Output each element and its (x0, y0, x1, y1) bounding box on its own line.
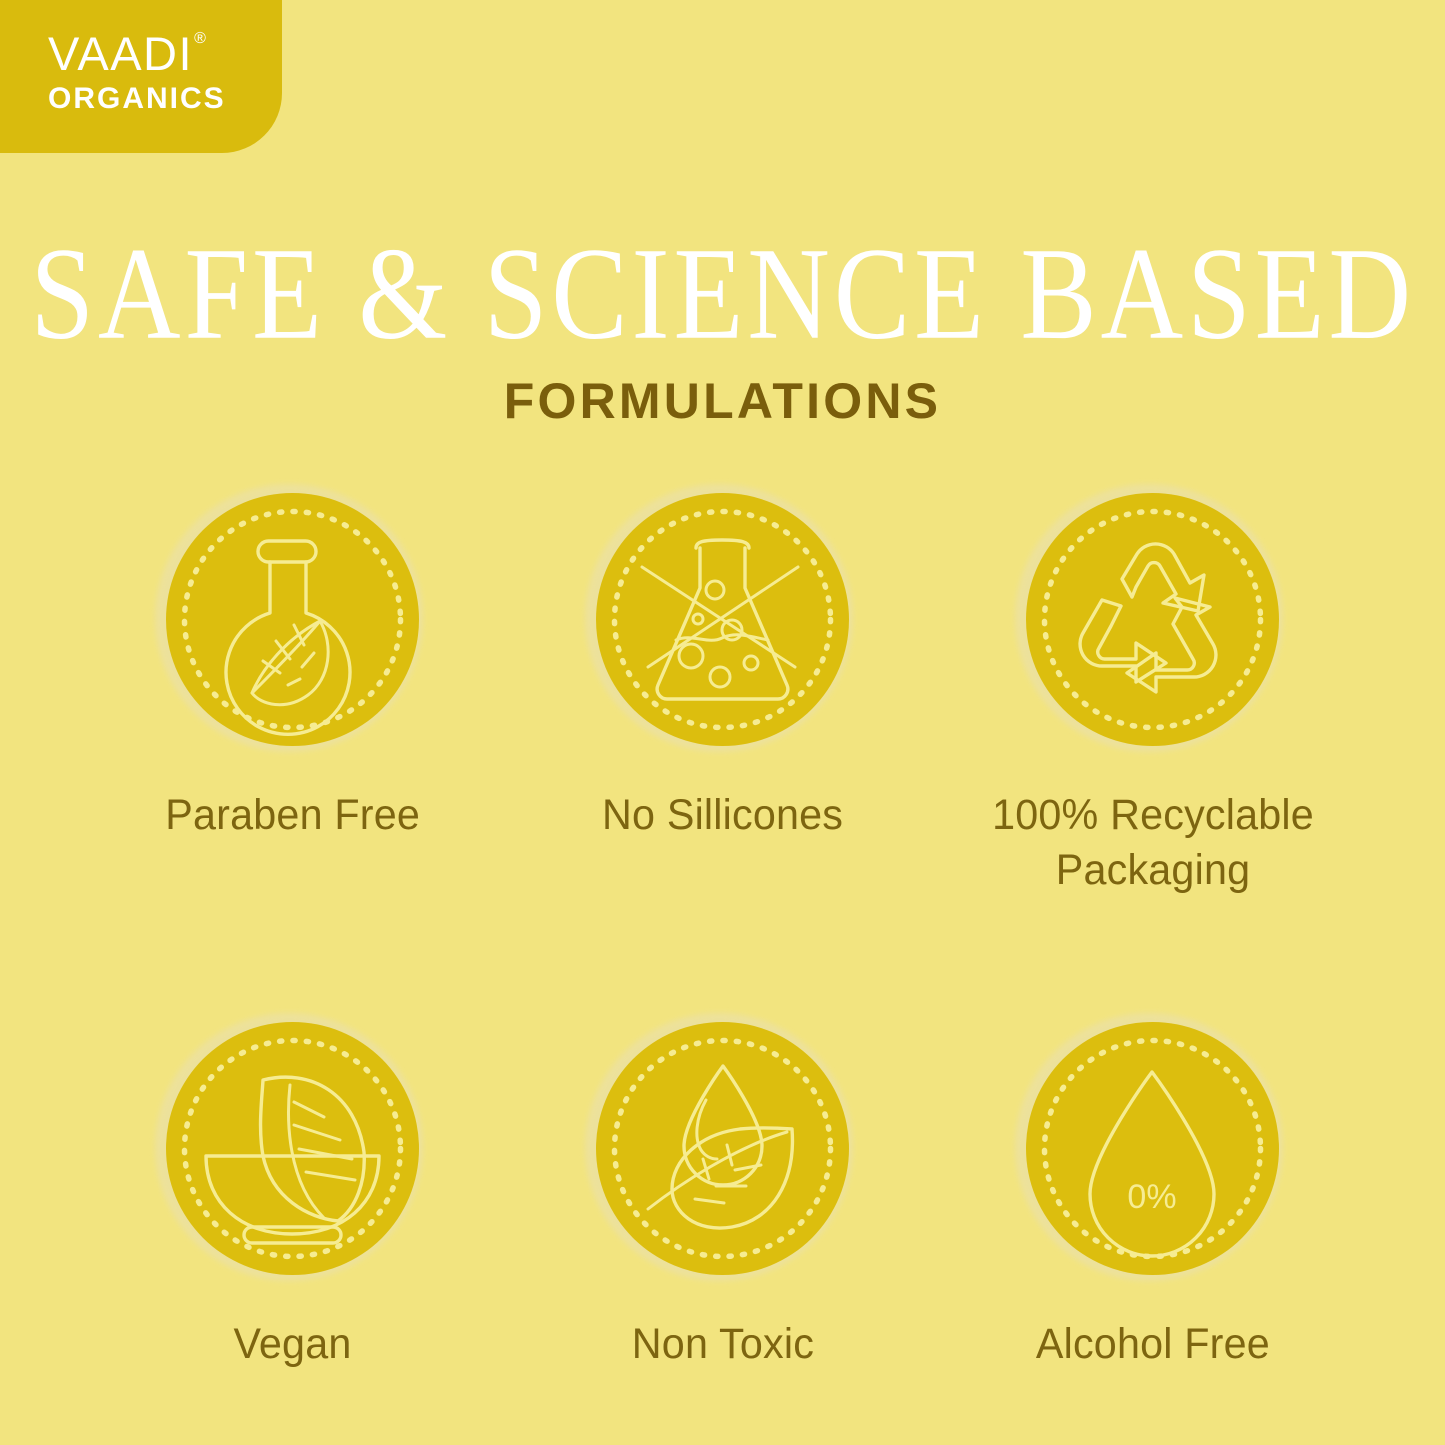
feature-label: 100% Recyclable Packaging (961, 788, 1345, 898)
feature-badge-non-toxic (573, 1001, 873, 1301)
feature-label: Non Toxic (631, 1317, 813, 1372)
crossed-out-erlenmeyer-flask-icon (596, 493, 849, 746)
feature-label: Vegan (233, 1317, 351, 1372)
feature-badge-recyclable-packaging (1003, 472, 1303, 772)
brand-name-text: VAADI (48, 27, 193, 80)
feature-item-recyclable-packaging: 100% Recyclable Packaging (938, 472, 1368, 898)
brand-name: VAADI® (48, 30, 205, 77)
feature-badge-no-sillicones (573, 472, 873, 772)
feature-item-non-toxic: Non Toxic (508, 1001, 938, 1372)
headline-container: SAFE & SCIENCE BASED (0, 228, 1445, 346)
droplet-leaf-icon (596, 1022, 849, 1275)
feature-item-vegan: Vegan (78, 1001, 508, 1372)
registered-trademark-icon: ® (194, 30, 206, 47)
feature-badge-vegan (143, 1001, 443, 1301)
feature-label: Paraben Free (165, 788, 420, 843)
page-subtitle: FORMULATIONS (504, 376, 941, 426)
subheadline-container: FORMULATIONS (0, 376, 1445, 426)
feature-item-paraben-free: Paraben Free (78, 472, 508, 843)
droplet-zero-percent-icon: 0% (1026, 1022, 1279, 1275)
feature-grid: Paraben Free (0, 472, 1445, 1372)
flask-leaf-icon (166, 493, 419, 746)
brand-logo-text: VAADI® ORGANICS (48, 30, 278, 114)
feature-badge-paraben-free (143, 472, 443, 772)
recycle-icon (1026, 493, 1279, 746)
droplet-value-text: 0% (1127, 1178, 1176, 1216)
page-title: SAFE & SCIENCE BASED (30, 228, 1415, 360)
feature-label: Alcohol Free (1035, 1317, 1269, 1372)
feature-label: No Sillicones (602, 788, 843, 843)
feature-item-no-sillicones: No Sillicones (508, 472, 938, 843)
brand-subname: ORGANICS (48, 84, 278, 114)
feature-badge-alcohol-free: 0% (1003, 1001, 1303, 1301)
feature-row-1: Paraben Free (0, 472, 1445, 898)
bowl-leaf-icon (166, 1022, 419, 1275)
feature-row-2: Vegan (0, 1001, 1445, 1372)
brand-logo-badge: VAADI® ORGANICS (0, 0, 282, 153)
feature-item-alcohol-free: 0% Alcohol Free (938, 1001, 1368, 1372)
